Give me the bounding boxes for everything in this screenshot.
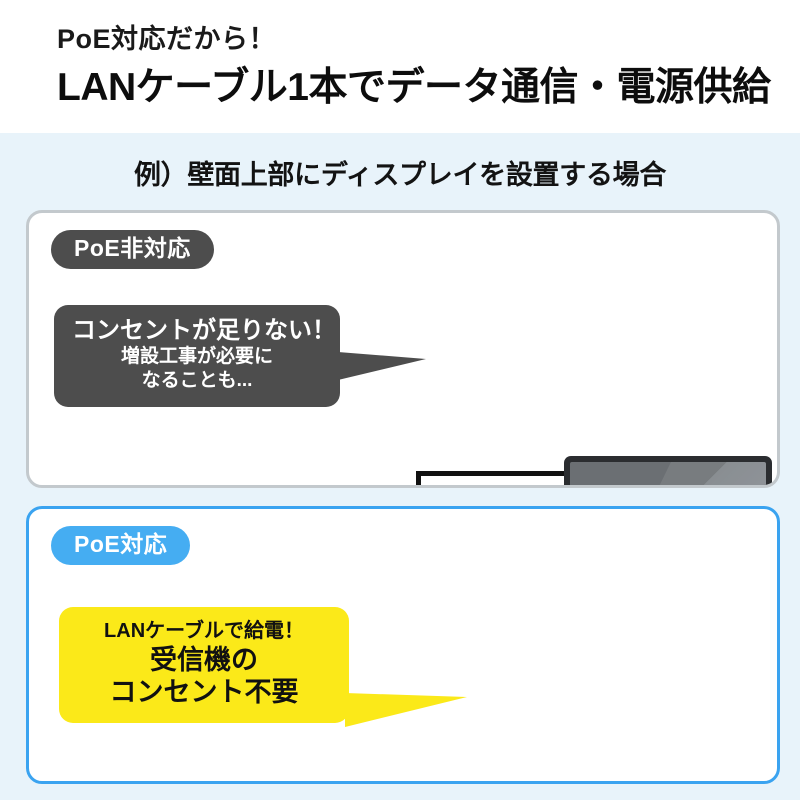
callout-tail	[338, 352, 426, 380]
callout-line-1: コンセントが足りない！	[72, 316, 322, 345]
callout-poe: LANケーブルで給電！ 受信機の コンセント不要	[59, 607, 349, 723]
callout-line-3: コンセント不要	[77, 676, 331, 708]
callout-line-2: 増設工事が必要に	[72, 345, 322, 369]
kicker-highlight: PoE対応	[57, 26, 166, 53]
panel-non-poe: PoE非対応 コンセントが足りない！ 増設工事が必要に なることも...	[26, 210, 780, 488]
callout-non-poe: コンセントが足りない！ 増設工事が必要に なることも...	[54, 305, 340, 407]
callout-line-3: なることも...	[72, 369, 322, 393]
page-title: LANケーブル1本でデータ通信・電源供給	[57, 67, 771, 110]
badge-poe: PoE対応	[51, 526, 190, 565]
header: PoE対応だから！ LANケーブル1本でデータ通信・電源供給	[0, 0, 800, 133]
wire-top-vertical	[416, 471, 421, 488]
kicker-text: PoE対応だから！	[57, 26, 276, 53]
display-monitor-off	[564, 456, 772, 488]
screen-glare	[611, 462, 766, 488]
example-section: 例）壁面上部にディスプレイを設置する場合 PoE非対応 コンセントが足りない！ …	[0, 133, 800, 800]
infographic-root: PoE対応だから！ LANケーブル1本でデータ通信・電源供給 例）壁面上部にディ…	[0, 0, 800, 800]
badge-non-poe: PoE非対応	[51, 230, 214, 269]
callout-line-1: LANケーブルで給電！	[77, 618, 331, 644]
callout-body: コンセントが足りない！ 増設工事が必要に なることも...	[54, 305, 340, 407]
callout-body: LANケーブルで給電！ 受信機の コンセント不要	[59, 607, 349, 723]
callout-line-2: 受信機の	[77, 644, 331, 676]
wire-top-horizontal	[416, 471, 568, 476]
callout-tail	[345, 693, 467, 727]
display-screen	[570, 462, 766, 488]
kicker-rest: だから！	[166, 24, 276, 54]
section-title: 例）壁面上部にディスプレイを設置する場合	[0, 153, 800, 192]
panel-poe: PoE対応 LANケーブルで給電！ 受信機の コンセント不要	[26, 506, 780, 784]
